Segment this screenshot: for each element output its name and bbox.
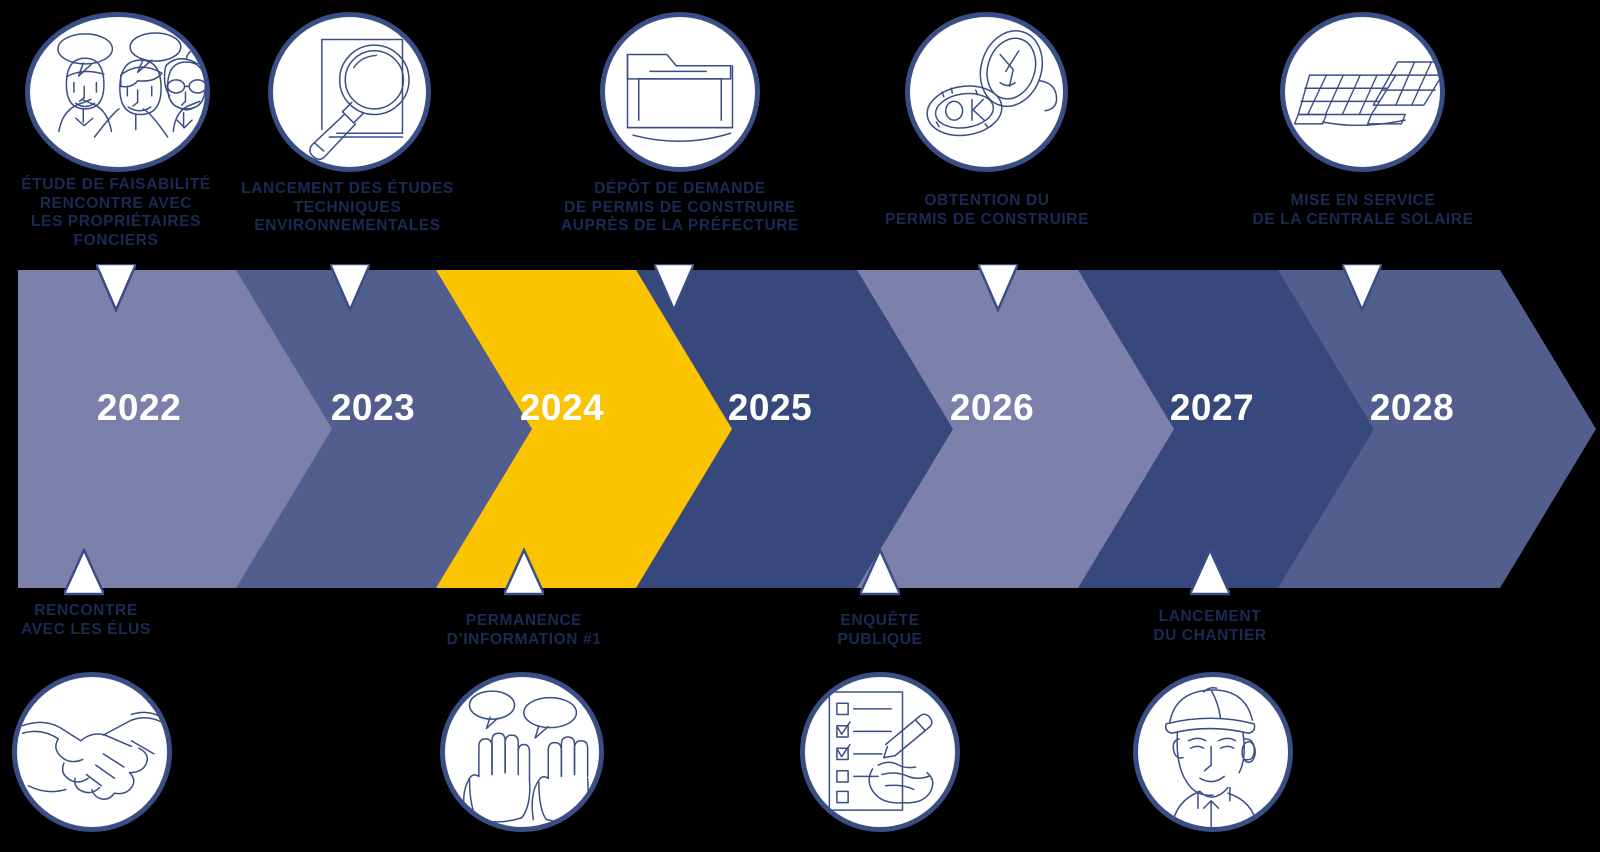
checklist-hand-pen-icon: [800, 672, 960, 832]
year-label-2023: 2023: [331, 387, 415, 429]
folder-document-icon: [600, 12, 760, 172]
timeline-infographic: ÉTUDE DE FAISABILITÉ RENCONTRE AVEC LES …: [0, 0, 1600, 852]
year-chevron-band: [0, 270, 1600, 588]
marker-down-4: [1342, 264, 1382, 312]
construction-worker-icon: [1133, 672, 1293, 832]
three-people-speech-bubbles-icon: [25, 12, 210, 172]
year-label-2028: 2028: [1370, 387, 1454, 429]
ok-stamp-icon: [905, 12, 1068, 172]
marker-down-3: [978, 264, 1018, 312]
marker-up-1: [504, 548, 544, 596]
milestone-bottom-label-0: RENCONTRE AVEC LES ÉLUS: [0, 602, 172, 639]
marker-up-3: [1190, 548, 1230, 596]
milestone-top-label-4: MISE EN SERVICE DE LA CENTRALE SOLAIRE: [1252, 192, 1474, 229]
milestone-top-label-0: ÉTUDE DE FAISABILITÉ RENCONTRE AVEC LES …: [0, 176, 232, 250]
marker-down-1: [330, 264, 370, 312]
year-label-2022: 2022: [97, 387, 181, 429]
magnifying-glass-document-icon: [268, 12, 431, 172]
milestone-top-label-2: DÉPÔT DE DEMANDE DE PERMIS DE CONSTRUIRE…: [552, 180, 808, 236]
milestone-top-label-1: LANCEMENT DES ÉTUDES TECHNIQUES ENVIRONN…: [240, 180, 455, 236]
milestone-bottom-label-2: ENQUÊTE PUBLIQUE: [788, 612, 972, 649]
year-label-2025: 2025: [728, 387, 812, 429]
milestone-bottom-label-1: PERMANENCE D’INFORMATION #1: [424, 612, 624, 649]
year-label-2024: 2024: [520, 387, 604, 429]
year-label-2027: 2027: [1170, 387, 1254, 429]
handshake-icon: [12, 672, 172, 832]
marker-up-2: [860, 548, 900, 596]
year-label-2026: 2026: [950, 387, 1034, 429]
chevrons: [18, 270, 1596, 588]
marker-down-2: [654, 264, 694, 312]
solar-panels-icon: [1280, 12, 1445, 172]
marker-down-0: [96, 264, 136, 312]
marker-up-0: [64, 548, 104, 596]
hands-speech-bubbles-icon: [440, 672, 604, 832]
milestone-top-label-3: OBTENTION DU PERMIS DE CONSTRUIRE: [878, 192, 1096, 229]
milestone-bottom-label-3: LANCEMENT DU CHANTIER: [1118, 608, 1302, 645]
